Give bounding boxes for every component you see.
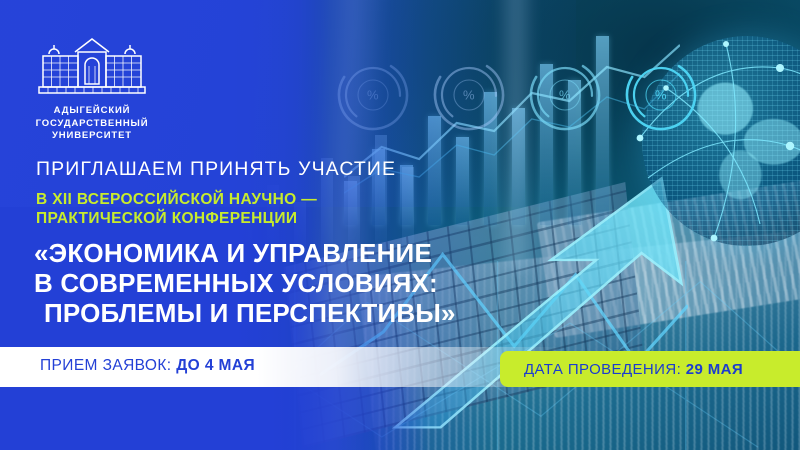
page-title-line-1: «ЭКОНОМИКА И УПРАВЛЕНИЕ [34,238,456,268]
page-title-line-3: ПРОБЛЕМЫ И ПЕРСПЕКТИВЫ» [34,298,456,328]
conference-poster: %%%% [0,0,800,450]
event-date-value: 29 МАЯ [686,361,743,378]
invite-heading: ПРИГЛАШАЕМ ПРИНЯТЬ УЧАСТИЕ [36,158,396,181]
percent-ring-icon: % [528,58,602,132]
page-title: «ЭКОНОМИКА И УПРАВЛЕНИЕ В СОВРЕМЕННЫХ УС… [34,238,456,328]
university-name-line-3: УНИВЕРСИТЕТ [22,130,162,143]
deadline-label: ПРИЕМ ЗАЯВОК: [40,357,172,374]
event-date-label: ДАТА ПРОВЕДЕНИЯ: [524,361,681,378]
university-name: АДЫГЕЙСКИЙ ГОСУДАРСТВЕННЫЙ УНИВЕРСИТЕТ [22,105,162,143]
page-title-line-2: В СОВРЕМЕННЫХ УСЛОВИЯХ: [34,268,456,298]
percent-ring-row: %%%% [336,58,716,136]
percent-ring-icon: % [624,58,698,132]
deadline-value: ДО 4 МАЯ [176,357,255,374]
percent-symbol: % [528,88,602,103]
percent-ring-icon: % [336,58,410,132]
percent-symbol: % [432,88,506,103]
percent-symbol: % [624,88,698,103]
conference-heading-line-2: ПРАКТИЧЕСКОЙ КОНФЕРЕНЦИИ [36,209,317,228]
percent-symbol: % [336,88,410,103]
conference-heading: В XII ВСЕРОССИЙСКОЙ НАУЧНО — ПРАКТИЧЕСКО… [36,190,317,228]
conference-heading-line-1: В XII ВСЕРОССИЙСКОЙ НАУЧНО — [36,190,317,209]
university-logo: АДЫГЕЙСКИЙ ГОСУДАРСТВЕННЫЙ УНИВЕРСИТЕТ [22,34,162,143]
university-name-line-1: АДЫГЕЙСКИЙ [22,105,162,118]
bottom-blue-shelf [0,387,430,450]
event-date-info: ДАТА ПРОВЕДЕНИЯ: 29 МАЯ [524,361,743,378]
deadline-info: ПРИЕМ ЗАЯВОК: ДО 4 МАЯ [40,357,255,375]
university-building-emblem [36,34,148,96]
percent-ring-icon: % [432,58,506,132]
university-name-line-2: ГОСУДАРСТВЕННЫЙ [22,118,162,131]
